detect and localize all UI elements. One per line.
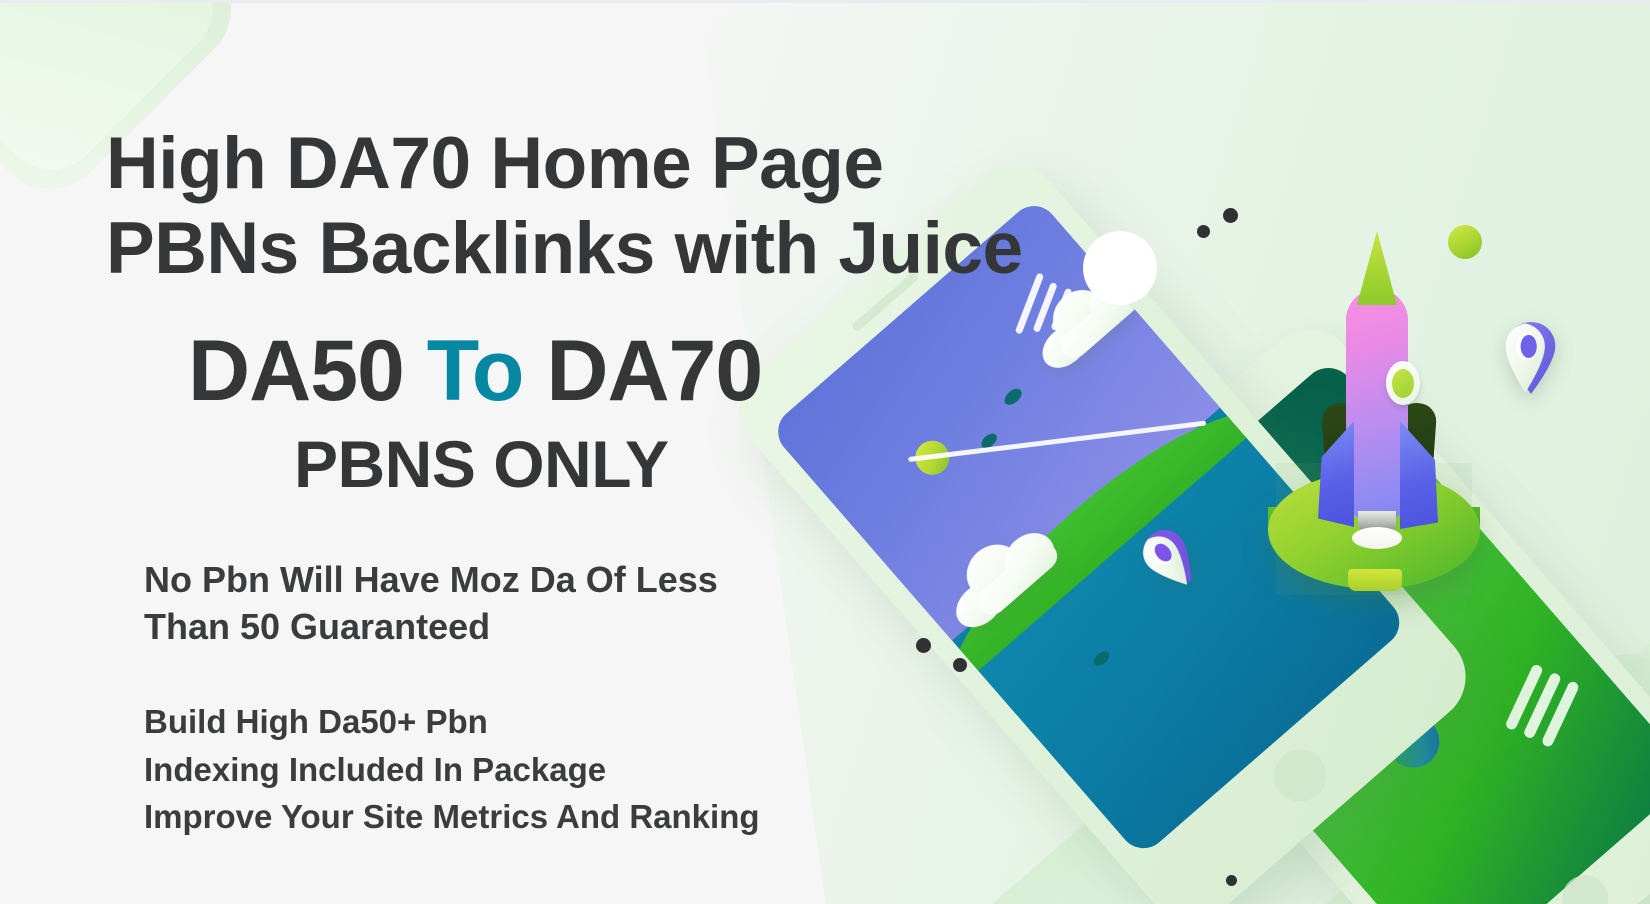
subhead-accent: To	[427, 323, 524, 419]
rocket-exhaust	[1352, 527, 1402, 549]
only-line: PBNS ONLY	[294, 430, 1100, 499]
bottom-band-3	[1386, 597, 1650, 904]
rocket-icon	[1300, 225, 1450, 555]
rocket-booster-right	[1393, 402, 1438, 502]
decorative-dot-5	[1226, 875, 1237, 886]
map-pin-right-icon	[1504, 321, 1558, 395]
map-route-line	[1298, 522, 1483, 572]
map-pin-left-icon	[1133, 520, 1210, 598]
promo-banner: High DA70 Home Page PBNs Backlinks with …	[0, 0, 1650, 904]
dark-green-blob	[1148, 357, 1459, 595]
rocket-body	[1346, 289, 1408, 519]
launchpad-tab	[1348, 569, 1402, 591]
front-phone-home-button	[1263, 739, 1336, 812]
rocket-fin-left	[1318, 421, 1354, 527]
floating-green-sphere	[1448, 225, 1482, 259]
rocket-fin-right	[1400, 421, 1438, 529]
rocket-nose-cone	[1357, 231, 1397, 305]
headline: High DA70 Home Page PBNs Backlinks with …	[106, 121, 1100, 292]
map-marker-dot	[1377, 705, 1450, 778]
rocket-nozzle	[1358, 511, 1396, 537]
back-phone-screen	[1086, 357, 1650, 904]
subhead: DA50 To DA70	[188, 328, 1100, 416]
signal-bars-icon	[1496, 659, 1588, 752]
back-phone-speaker	[1164, 421, 1230, 480]
subhead-before: DA50	[188, 323, 427, 419]
features-text: Build High Da50+ Pbn Indexing Included I…	[144, 698, 1100, 841]
launchpad-side	[1268, 507, 1480, 573]
launchpad	[1268, 471, 1480, 589]
bottom-band-2	[1209, 638, 1650, 904]
text-content: High DA70 Home Page PBNs Backlinks with …	[0, 3, 1100, 841]
back-phone-home-button	[1553, 866, 1618, 904]
launchpad-shadow	[1276, 463, 1472, 595]
rocket-window	[1386, 361, 1420, 405]
decorative-dot-2	[1223, 208, 1238, 223]
rocket-booster-left	[1321, 402, 1364, 500]
back-phone	[1043, 311, 1650, 904]
guarantee-text: No Pbn Will Have Moz Da Of Less Than 50 …	[144, 557, 1100, 651]
decorative-dot-1	[1197, 225, 1210, 238]
subhead-after: DA70	[523, 323, 762, 419]
